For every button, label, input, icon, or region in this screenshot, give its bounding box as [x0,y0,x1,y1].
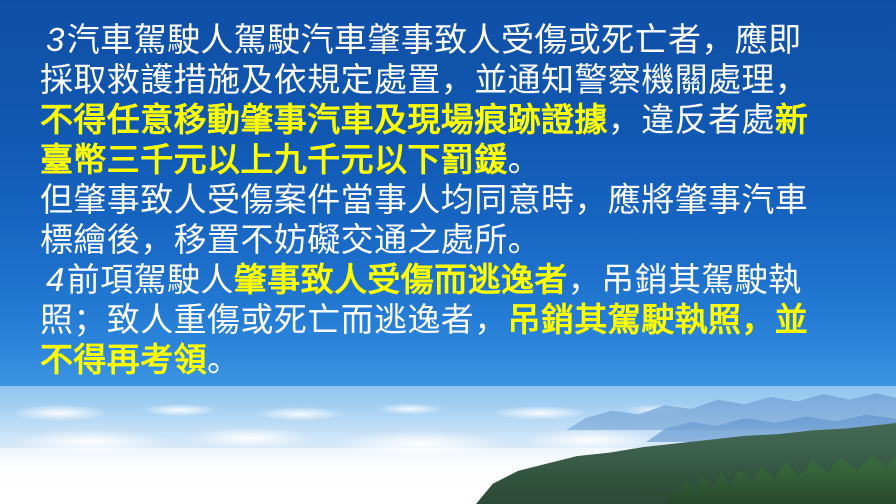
line-9-run-0: 不得再考領 [40,341,207,378]
line-2: 採取救護措施及依規定處置，並通知警察機關處理， [0,60,896,100]
line-3-run-0: 不得任意移動肇事汽車及現場痕跡證據 [40,101,608,138]
presentation-slide: 3汽車駕駛人駕駛汽車肇事致人受傷或死亡者，應即採取救護措施及依規定處置，並通知警… [0,0,896,504]
line-7-run-1: 前項駕駛人 [67,261,234,298]
line-7-run-0: 4 [46,261,67,298]
line-6: 標繪後，移置不妨礙交通之處所。 [0,220,896,260]
line-8: 照；致人重傷或死亡而逃逸者，吊銷其駕駛執照，並 [0,300,896,340]
line-4-run-1: 。 [508,141,541,178]
line-7-run-2: 肇事致人受傷而逃逸者 [234,261,568,298]
line-6-run-0: 標繪後，移置不妨礙交通之處所。 [40,221,541,258]
line-5-run-0: 但肇事致人受傷案件當事人均同意時，應將肇事汽車 [40,181,808,218]
line-9: 不得再考領。 [0,340,896,380]
line-5: 但肇事致人受傷案件當事人均同意時，應將肇事汽車 [0,180,896,220]
line-1: 3汽車駕駛人駕駛汽車肇事致人受傷或死亡者，應即 [0,20,896,60]
line-1-run-0: 3 [46,21,67,58]
line-3-run-1: ，違反者處 [608,101,775,138]
line-8-run-0: 照；致人重傷或死亡而逃逸者， [40,301,508,338]
line-7-run-3: ，吊銷其駕駛執 [568,261,802,298]
line-8-run-1: 吊銷其駕駛執照，並 [508,301,809,338]
background-photo-cloudsea [0,386,896,504]
line-9-run-1: 。 [207,341,240,378]
slide-body-text: 3汽車駕駛人駕駛汽車肇事致人受傷或死亡者，應即採取救護措施及依規定處置，並通知警… [0,20,896,380]
line-3: 不得任意移動肇事汽車及現場痕跡證據，違反者處新 [0,100,896,140]
line-1-run-1: 汽車駕駛人駕駛汽車肇事致人受傷或死亡者，應即 [67,21,802,58]
line-7: 4前項駕駛人肇事致人受傷而逃逸者，吊銷其駕駛執 [0,260,896,300]
line-2-run-0: 採取救護措施及依規定處置，並通知警察機關處理， [40,61,808,98]
line-3-run-2: 新 [775,101,808,138]
line-4: 臺幣三千元以上九千元以下罰鍰。 [0,140,896,180]
line-4-run-0: 臺幣三千元以上九千元以下罰鍰 [40,141,508,178]
